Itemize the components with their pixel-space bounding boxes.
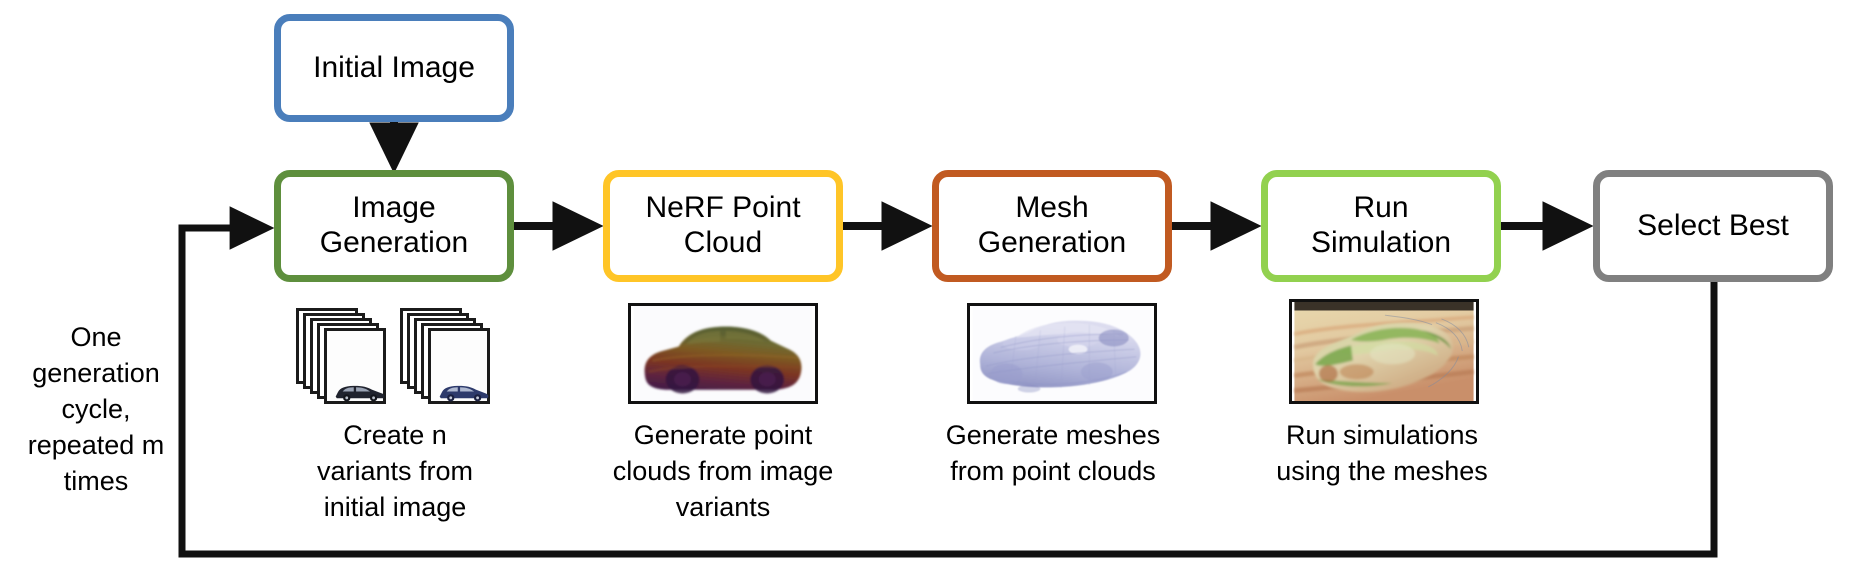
card-stack-right [400, 308, 492, 408]
node-select-best[interactable]: Select Best [1593, 170, 1833, 282]
thumbnail-mesh [967, 303, 1157, 404]
node-nerf-point-cloud[interactable]: NeRF Point Cloud [603, 170, 843, 282]
loop-cycle-label: One generation cycle, repeated m times [16, 320, 176, 500]
node-initial-image[interactable]: Initial Image [274, 14, 514, 122]
node-run-simulation[interactable]: Run Simulation [1261, 170, 1501, 282]
caption-image-generation: Create n variants from initial image [264, 418, 526, 526]
thumbnail-simulation [1289, 299, 1479, 404]
car-point-cloud-icon [631, 306, 815, 401]
node-run-simulation-label: Run Simulation [1305, 191, 1457, 261]
caption-run-simulation: Run simulations using the meshes [1251, 418, 1513, 490]
thumbnail-image-variants [296, 308, 492, 408]
car-photo-icon [331, 357, 387, 408]
thumbnail-point-cloud [628, 303, 818, 404]
node-image-generation[interactable]: Image Generation [274, 170, 514, 282]
image-card-front [428, 328, 490, 404]
diagram-canvas: Initial Image Image Generation NeRF Poin… [0, 0, 1850, 576]
node-select-best-label: Select Best [1631, 209, 1795, 244]
node-initial-image-label: Initial Image [307, 51, 481, 86]
cfd-simulation-icon [1292, 302, 1476, 401]
image-card-front [324, 328, 386, 404]
node-image-generation-label: Image Generation [314, 191, 474, 261]
caption-nerf-point-cloud: Generate point clouds from image variant… [573, 418, 873, 526]
node-mesh-generation-label: Mesh Generation [972, 191, 1132, 261]
card-stack-left [296, 308, 388, 408]
caption-mesh-generation: Generate meshes from point clouds [922, 418, 1184, 490]
car-mesh-icon [970, 306, 1154, 401]
car-photo-icon [435, 357, 491, 408]
node-mesh-generation[interactable]: Mesh Generation [932, 170, 1172, 282]
node-nerf-point-cloud-label: NeRF Point Cloud [639, 191, 806, 261]
